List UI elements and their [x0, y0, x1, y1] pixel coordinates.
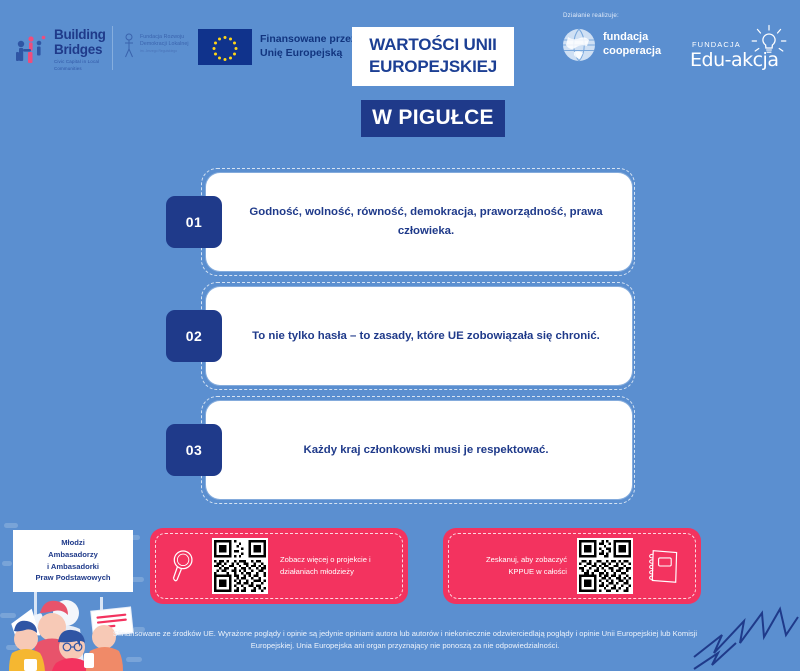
eduakcja-label: FUNDACJA	[692, 40, 741, 49]
logo-frdl: Fundacja Rozwoju Demokracji Lokalnej im.…	[122, 33, 189, 59]
card-text: To nie tylko hasła – to zasady, które UE…	[240, 287, 612, 385]
eu-flag-icon	[198, 29, 252, 65]
page-title: WARTOŚCI UNII EUROPEJSKIEJ W PIGUŁCE	[352, 27, 514, 137]
logo-edu-akcja: FUNDACJA Edu-akcja	[690, 26, 790, 74]
logo-building-bridges-text: Building Bridges Civic Capital in Local …	[54, 28, 106, 72]
bb-name-line2: Bridges	[54, 43, 106, 57]
qr-caption-kppue: Zeskanuj, aby zobaczyć KPPUE w całości	[449, 554, 577, 579]
eu-text-line2: Unię Europejską	[260, 47, 356, 61]
qr-code-project[interactable]	[212, 538, 268, 594]
logo-frdl-text: Fundacja Rozwoju Demokracji Lokalnej im.…	[140, 33, 189, 53]
card-text: Godność, wolność, równość, demokracja, p…	[240, 173, 612, 271]
sign-line4: Praw Podstawowych	[17, 572, 129, 584]
frdl-line2: Demokracji Lokalnej	[140, 41, 189, 48]
bb-tagline-line2: Communities	[54, 66, 106, 73]
realizer-label: Działanie realizuje:	[563, 12, 619, 19]
frdl-figure-icon	[122, 33, 136, 59]
values-card-row: 02 To nie tylko hasła – to zasady, które…	[0, 282, 800, 396]
qr-card-inner: Zeskanuj, aby zobaczyć KPPUE w całości	[448, 533, 696, 599]
cooperacja-line1: fundacja	[603, 31, 661, 45]
qr-caption-project: Zobacz więcej o projekcie i działaniach …	[268, 554, 402, 579]
card-number-badge: 01	[166, 196, 222, 248]
frdl-line1: Fundacja Rozwoju	[140, 34, 189, 41]
magnifier-icon	[156, 548, 212, 584]
values-card-list: 01 Godność, wolność, równość, demokracja…	[0, 168, 800, 510]
page-title-sub: W PIGUŁCE	[361, 100, 505, 137]
bb-tagline-line1: Civic Capital in Local	[54, 59, 106, 66]
zigzag-starburst-icon	[692, 591, 800, 671]
logo-fundacja-cooperacja: fundacja cooperacja	[562, 28, 661, 62]
values-card-row: 01 Godność, wolność, równość, demokracja…	[0, 168, 800, 282]
card-number-badge: 03	[166, 424, 222, 476]
card-text: Każdy kraj członkowski musi je respektow…	[240, 401, 612, 499]
sign-line2: Ambasadorzy	[17, 549, 129, 561]
people-bridge-icon	[14, 32, 48, 68]
eu-text-line1: Finansowane przez	[260, 33, 356, 47]
logo-divider	[112, 26, 113, 70]
cooperacja-line2: cooperacja	[603, 45, 661, 59]
page-title-line1: WARTOŚCI UNII	[358, 34, 508, 56]
page-title-line2: EUROPEJSKIEJ	[358, 56, 508, 78]
bb-name-line1: Building	[54, 28, 106, 42]
qr-card-project[interactable]: Zobacz więcej o projekcie i działaniach …	[150, 528, 408, 604]
sign-line3: i Ambasadorki	[17, 561, 129, 573]
logo-eu-text: Finansowane przez Unię Europejską	[260, 33, 356, 61]
logo-eu-funding: Finansowane przez Unię Europejską	[198, 29, 356, 65]
eduakcja-name: Edu-akcja	[690, 49, 778, 71]
page-header: Building Bridges Civic Capital in Local …	[0, 0, 800, 150]
qr-card-kppue[interactable]: Zeskanuj, aby zobaczyć KPPUE w całości	[443, 528, 701, 604]
page-title-main: WARTOŚCI UNII EUROPEJSKIEJ	[352, 27, 514, 86]
footer-disclaimer: Sfinansowane ze środków UE. Wyrażone pog…	[100, 628, 710, 653]
sign-line1: Młodzi	[17, 537, 129, 549]
logo-building-bridges: Building Bridges Civic Capital in Local …	[14, 28, 106, 72]
values-card-row: 03 Każdy kraj członkowski musi je respek…	[0, 396, 800, 510]
frdl-sub: im. Jerzego Regulskiego	[140, 49, 189, 53]
card-number-badge: 02	[166, 310, 222, 362]
logo-cooperacja-text: fundacja cooperacja	[603, 31, 661, 59]
qr-code-kppue[interactable]	[577, 538, 633, 594]
illustration-sign: Młodzi Ambasadorzy i Ambasadorki Praw Po…	[13, 530, 133, 592]
notebook-icon	[633, 546, 695, 586]
globe-icon	[562, 28, 596, 62]
qr-card-inner: Zobacz więcej o projekcie i działaniach …	[155, 533, 403, 599]
